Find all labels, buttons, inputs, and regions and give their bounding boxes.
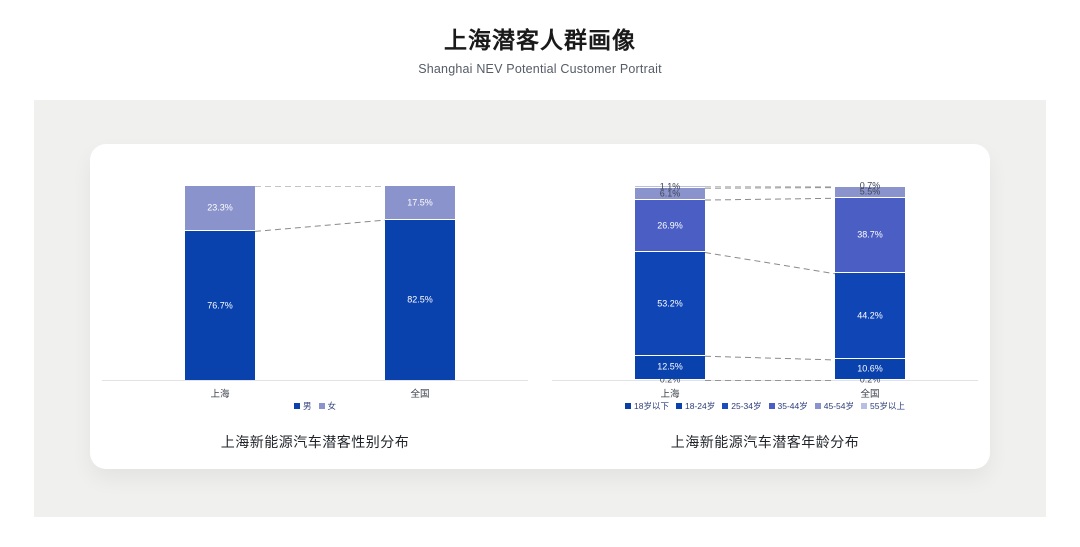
- bar-segment[interactable]: 17.5%: [385, 185, 455, 219]
- bar-segment-label: 44.2%: [835, 311, 905, 320]
- age-chart-caption: 上海新能源汽车潜客年龄分布: [540, 432, 990, 452]
- bar-segment-label: 10.6%: [835, 365, 905, 374]
- age-plot-area: 0.2%12.5%53.2%26.9%6.1%1.1%上海 0.2%10.6%4…: [540, 186, 990, 381]
- bar-segment-label: 26.9%: [635, 221, 705, 230]
- legend-item[interactable]: 18岁以下: [625, 402, 669, 411]
- legend-label: 男: [303, 402, 312, 411]
- gender-bar-national[interactable]: 82.5%17.5%全国: [385, 185, 455, 380]
- bar-segment-label: 38.7%: [835, 231, 905, 240]
- bar-segment[interactable]: 0.7%: [835, 185, 905, 186]
- age-legend: 18岁以下18-24岁25-34岁35-44岁45-54岁55岁以上: [540, 402, 990, 411]
- bar-segment-label: 12.5%: [635, 363, 705, 372]
- bar-segment-label: 82.5%: [385, 296, 455, 305]
- legend-item[interactable]: 18-24岁: [676, 402, 715, 411]
- legend-swatch-icon: [294, 403, 300, 409]
- bar-segment-label: 1.1%: [635, 182, 705, 191]
- legend-swatch-icon: [319, 403, 325, 409]
- bar-segment[interactable]: 1.1%: [635, 185, 705, 187]
- bar-segment[interactable]: 53.2%: [635, 251, 705, 354]
- bar-segment-label: 17.5%: [385, 198, 455, 207]
- legend-item[interactable]: 男: [294, 402, 312, 411]
- page-title: 上海潜客人群画像: [0, 26, 1080, 55]
- legend-swatch-icon: [815, 403, 821, 409]
- bar-segment-label: 0.7%: [835, 182, 905, 191]
- bar-segment-label: 76.7%: [185, 301, 255, 310]
- legend-item[interactable]: 女: [319, 402, 337, 411]
- gender-axis-line: [102, 380, 528, 381]
- legend-item[interactable]: 55岁以上: [861, 402, 905, 411]
- bar-segment[interactable]: 38.7%: [835, 197, 905, 272]
- legend-item[interactable]: 35-44岁: [769, 402, 808, 411]
- bar-segment[interactable]: 82.5%: [385, 219, 455, 380]
- charts-card: 76.7%23.3%上海 82.5%17.5%全国 男女 上海新能源汽车潜客性别…: [90, 144, 990, 469]
- bar-segment[interactable]: 12.5%: [635, 355, 705, 379]
- legend-label: 18岁以下: [634, 402, 669, 411]
- legend-label: 55岁以上: [870, 402, 905, 411]
- age-bar-national[interactable]: 0.2%10.6%44.2%38.7%5.5%0.7%全国: [835, 185, 905, 380]
- gender-plot-area: 76.7%23.3%上海 82.5%17.5%全国: [90, 186, 540, 381]
- category-label: 全国: [385, 386, 455, 400]
- bar-segment[interactable]: 23.3%: [185, 185, 255, 230]
- age-bar-shanghai[interactable]: 0.2%12.5%53.2%26.9%6.1%1.1%上海: [635, 185, 705, 380]
- legend-label: 25-34岁: [731, 402, 761, 411]
- page-header: 上海潜客人群画像 Shanghai NEV Potential Customer…: [0, 0, 1080, 76]
- legend-label: 45-54岁: [824, 402, 854, 411]
- legend-swatch-icon: [676, 403, 682, 409]
- bar-segment-label: 53.2%: [635, 299, 705, 308]
- charts-row: 76.7%23.3%上海 82.5%17.5%全国 男女 上海新能源汽车潜客性别…: [90, 144, 990, 469]
- gender-connector-lines: [90, 186, 540, 381]
- bar-segment[interactable]: 26.9%: [635, 199, 705, 251]
- page-subtitle: Shanghai NEV Potential Customer Portrait: [0, 62, 1080, 76]
- legend-label: 35-44岁: [778, 402, 808, 411]
- legend-item[interactable]: 45-54岁: [815, 402, 854, 411]
- age-axis-line: [552, 380, 978, 381]
- age-connector-lines: [540, 186, 990, 381]
- page-root: 上海潜客人群画像 Shanghai NEV Potential Customer…: [0, 0, 1080, 547]
- chart-age: 0.2%12.5%53.2%26.9%6.1%1.1%上海 0.2%10.6%4…: [540, 144, 990, 469]
- bar-segment[interactable]: 10.6%: [835, 358, 905, 379]
- gender-bar-shanghai[interactable]: 76.7%23.3%上海: [185, 185, 255, 380]
- category-label: 上海: [635, 386, 705, 400]
- category-label: 全国: [835, 386, 905, 400]
- bar-segment[interactable]: 0.2%: [835, 379, 905, 380]
- legend-swatch-icon: [769, 403, 775, 409]
- legend-swatch-icon: [722, 403, 728, 409]
- bar-segment[interactable]: 44.2%: [835, 272, 905, 358]
- category-label: 上海: [185, 386, 255, 400]
- gender-legend: 男女: [90, 402, 540, 411]
- chart-gender: 76.7%23.3%上海 82.5%17.5%全国 男女 上海新能源汽车潜客性别…: [90, 144, 540, 469]
- bar-segment-label: 23.3%: [185, 204, 255, 213]
- bar-segment[interactable]: 0.2%: [635, 379, 705, 380]
- legend-label: 18-24岁: [685, 402, 715, 411]
- legend-item[interactable]: 25-34岁: [722, 402, 761, 411]
- bar-segment[interactable]: 76.7%: [185, 230, 255, 380]
- legend-label: 女: [328, 402, 337, 411]
- legend-swatch-icon: [625, 403, 631, 409]
- legend-swatch-icon: [861, 403, 867, 409]
- gender-chart-caption: 上海新能源汽车潜客性别分布: [90, 432, 540, 452]
